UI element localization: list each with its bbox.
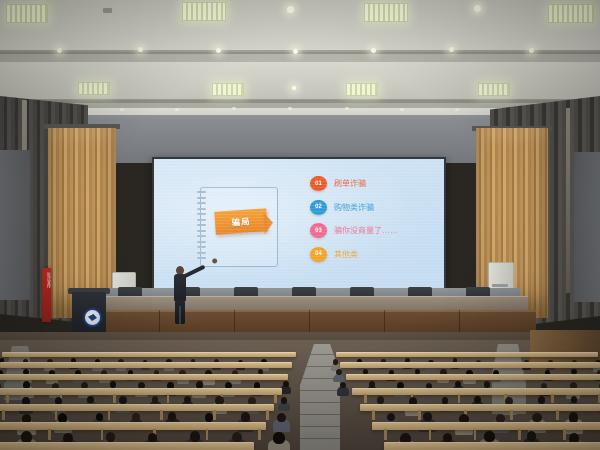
slide-bullet-item: 04其他类 <box>310 246 436 263</box>
bullet-label: 骗你没商量了…… <box>334 225 398 236</box>
presenter-hand <box>212 258 217 263</box>
desk-leg <box>206 429 209 440</box>
presenter <box>172 266 188 322</box>
audience-member-head <box>132 413 140 421</box>
audience-member-head <box>87 396 93 403</box>
audience-member-head <box>277 413 286 422</box>
ceiling-downlight-small <box>455 108 459 111</box>
audience-member-head <box>474 396 481 403</box>
audience-desk <box>0 374 288 380</box>
desk-leg <box>458 394 461 403</box>
audience-desk <box>372 422 600 430</box>
audience-desk <box>0 388 282 395</box>
desk-leg <box>160 410 163 420</box>
audience-member-head <box>283 381 289 387</box>
ceiling-downlight-small <box>120 108 124 111</box>
audience-desk <box>384 442 600 450</box>
bullet-label: 刷单诈骗 <box>334 178 366 189</box>
ceiling-soffit-edge-2 <box>0 99 600 103</box>
notebook-ribbon-tip <box>263 212 274 235</box>
ceiling-downlight-small <box>232 107 236 110</box>
ceiling-vent-icon <box>103 8 112 13</box>
projection-screen-frame: 骗局 01刷单诈骗02购物类诈骗03骗你没商量了……04其他类 <box>152 157 446 295</box>
ceiling-panel-light <box>478 83 510 96</box>
podium <box>72 292 106 334</box>
ceiling-downlight <box>529 48 534 53</box>
bullet-number-badge: 02 <box>310 200 327 215</box>
ceiling <box>0 0 600 118</box>
audience-member-head <box>538 396 545 404</box>
audience-member-head <box>96 413 103 421</box>
audience-desk <box>340 362 600 368</box>
ceiling-downlight-small <box>175 108 179 111</box>
notebook-ribbon: 骗局 <box>214 208 267 235</box>
ceiling-downlight <box>293 49 298 54</box>
desk-leg <box>274 394 277 403</box>
audience-member-head <box>205 413 213 421</box>
audience-member-head <box>532 413 541 423</box>
ceiling-downlight <box>474 5 481 12</box>
audience-desk <box>0 404 274 411</box>
desk-leg <box>258 429 261 440</box>
bullet-number-badge: 01 <box>310 176 327 191</box>
audience-member-head <box>333 359 338 365</box>
desk-leg <box>418 410 421 420</box>
audience-member-head <box>571 396 577 403</box>
audience-member-head <box>281 397 287 404</box>
grey-wall-right <box>574 152 600 302</box>
desk-leg <box>48 429 51 440</box>
bullet-number-badge: 03 <box>310 223 327 238</box>
desk-leg <box>108 410 111 420</box>
lecture-hall-photo: 反诈宣传 骗局 01刷单诈骗02购物类诈骗03骗你没商量了……04其他类 <box>0 0 600 450</box>
desk-leg <box>266 410 269 420</box>
bullet-label: 购物类诈骗 <box>334 202 374 213</box>
red-banner-text: 反诈宣传 <box>42 272 51 288</box>
desk-leg <box>518 429 521 440</box>
bullet-label: 其他类 <box>334 249 358 260</box>
audience-desk <box>0 362 292 368</box>
audience-member-head <box>273 432 284 444</box>
audience-desk <box>352 388 600 395</box>
school-emblem-icon <box>83 308 102 327</box>
ceiling-downlight-small <box>345 107 349 110</box>
ceiling-panel-light <box>346 83 378 96</box>
audience-desk <box>360 404 600 411</box>
audience-member-head <box>377 396 384 403</box>
ceiling-downlight-small <box>288 107 292 110</box>
audience-member-head <box>527 431 536 441</box>
ceiling-panel-light <box>364 3 408 22</box>
presenter-legs <box>175 300 185 324</box>
audience-member-head <box>387 413 395 421</box>
ceiling-downlight <box>449 47 454 52</box>
desk-leg <box>213 410 216 420</box>
desk-leg <box>551 394 554 403</box>
ceiling-panel-light <box>212 83 244 96</box>
ceiling-downlight <box>138 47 143 52</box>
desk-leg <box>167 394 170 403</box>
desk-leg <box>372 410 375 420</box>
ceiling-panel-light <box>6 4 48 23</box>
slide-bullet-item: 02购物类诈骗 <box>310 199 436 216</box>
audience-member-head <box>241 412 250 421</box>
ceiling-downlight <box>371 48 376 53</box>
ceiling-downlight-small <box>400 108 404 111</box>
desk-leg <box>364 394 367 403</box>
audience-member-head <box>190 431 200 442</box>
ceiling-downlight <box>287 6 294 13</box>
desk-leg <box>563 429 566 440</box>
red-banner: 反诈宣传 <box>42 268 51 322</box>
grey-wall-left <box>0 150 30 300</box>
desk-leg <box>429 429 432 440</box>
audience-desk <box>0 442 254 450</box>
slide-bullet-item: 03骗你没商量了…… <box>310 222 436 239</box>
desk-leg <box>101 429 104 440</box>
ceiling-panel-light <box>78 82 110 95</box>
audience-desk <box>336 352 598 357</box>
notebook-spiral-icon <box>197 191 206 263</box>
audience-desk <box>0 422 266 430</box>
ceiling-panel-light <box>548 4 594 23</box>
curtain-highlight-right <box>566 108 570 293</box>
desk-leg <box>384 429 387 440</box>
audience-member-head <box>184 396 191 403</box>
desk-leg <box>6 394 9 403</box>
audience-member-head <box>369 381 375 387</box>
audience-member-head <box>232 432 242 443</box>
notebook-illustration: 骗局 <box>200 187 278 267</box>
audience-desk <box>346 374 600 380</box>
desk-leg <box>556 410 559 420</box>
audience-member-head <box>119 396 127 404</box>
slide-bullet-list: 01刷单诈骗02购物类诈骗03骗你没商量了……04其他类 <box>310 175 436 269</box>
ceiling-band-1 <box>0 0 600 52</box>
audience-member-head <box>484 431 495 442</box>
audience-member-head <box>168 412 176 420</box>
audience-member-head <box>363 369 368 374</box>
ceiling-soffit-edge <box>0 50 600 54</box>
desk-leg <box>510 410 513 420</box>
ceiling-downlight <box>57 48 62 53</box>
ceiling-downlight <box>292 86 296 90</box>
slide-bullet-item: 01刷单诈骗 <box>310 175 436 192</box>
desk-leg <box>2 410 5 420</box>
notebook-ribbon-label: 骗局 <box>214 208 267 235</box>
projection-screen: 骗局 01刷单诈骗02购物类诈骗03骗你没商量了……04其他类 <box>154 159 444 293</box>
ceiling-panel-light <box>182 2 226 21</box>
ceiling-downlight <box>216 48 221 53</box>
desk-leg <box>474 429 477 440</box>
audience-desk <box>2 352 296 357</box>
desk-leg <box>113 394 116 403</box>
audience-member-head <box>484 381 490 388</box>
audience-member-head <box>106 432 116 442</box>
bullet-number-badge: 04 <box>310 247 327 262</box>
audience-member-head <box>423 412 432 421</box>
desk-leg <box>55 410 58 420</box>
